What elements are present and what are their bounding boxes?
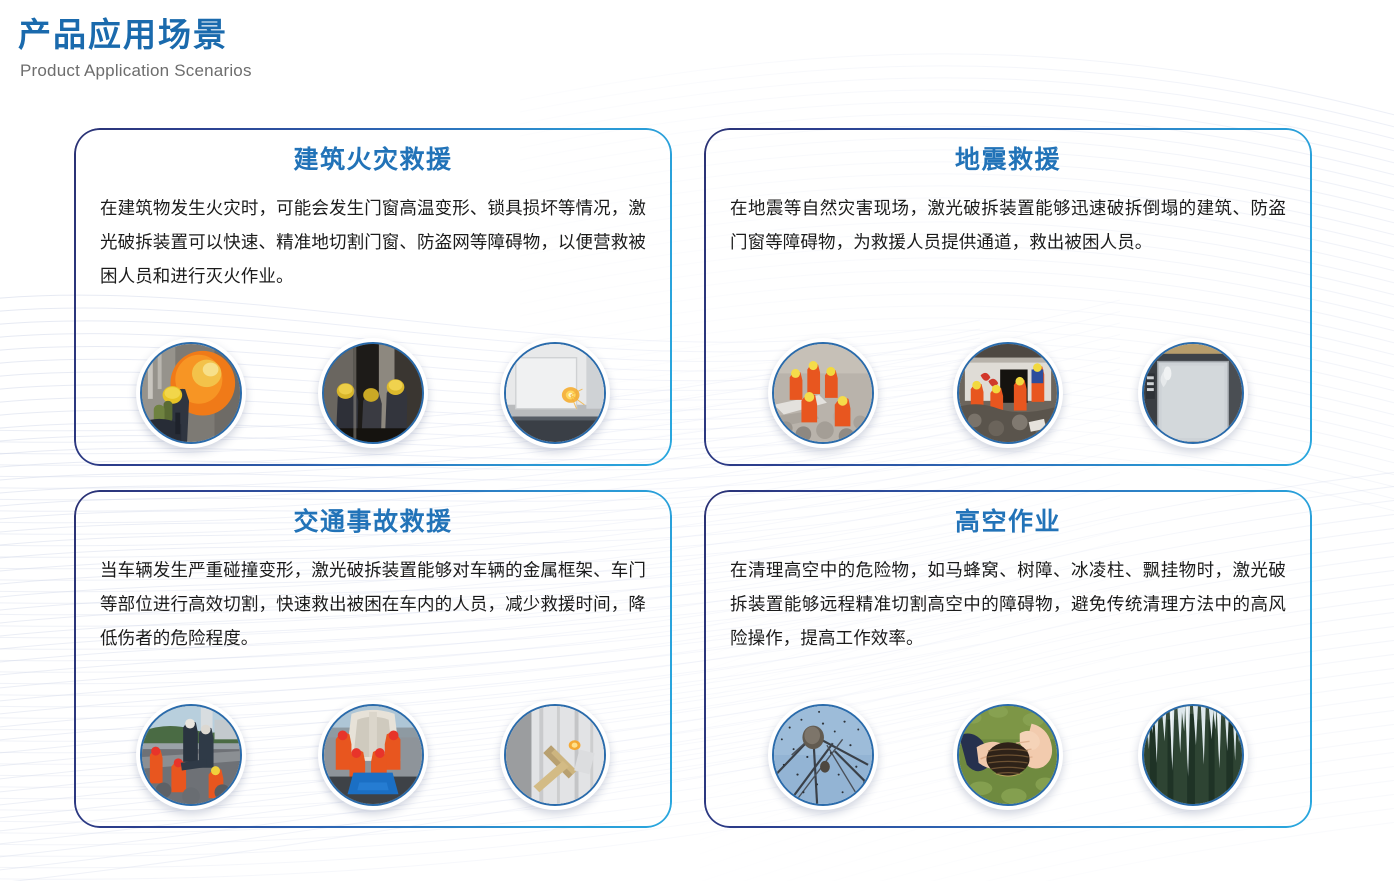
hands-holding-honeycomb-photo[interactable] bbox=[953, 700, 1063, 810]
scenario-card-high-altitude-operation[interactable]: 高空作业 在清理高空中的危险物，如马蜂窝、树障、冰凌柱、飘挂物时，激光破拆装置能… bbox=[704, 490, 1312, 828]
card-photo-row bbox=[704, 338, 1312, 448]
card-title: 建筑火灾救援 bbox=[74, 128, 672, 175]
card-photo-row bbox=[74, 700, 672, 810]
card-description: 在建筑物发生火灾时，可能会发生门窗高温变形、锁具损坏等情况，激光破拆装置可以快速… bbox=[74, 175, 672, 293]
card-description: 当车辆发生严重碰撞变形，激光破拆装置能够对车辆的金属框架、车门等部位进行高效切割… bbox=[74, 537, 672, 655]
card-description: 在地震等自然灾害现场，激光破拆装置能够迅速破拆倒塌的建筑、防盗门窗等障碍物，为救… bbox=[704, 175, 1312, 259]
icicles-on-trees-photo[interactable] bbox=[1138, 700, 1248, 810]
laser-cutting-metal-sparks-photo[interactable] bbox=[500, 338, 610, 448]
collapsed-building-entry-photo[interactable] bbox=[953, 338, 1063, 448]
firefighters-in-smoky-corridor-photo[interactable] bbox=[318, 338, 428, 448]
card-title: 交通事故救援 bbox=[74, 490, 672, 537]
page-subtitle: Product Application Scenarios bbox=[20, 61, 252, 81]
scenario-card-traffic-accident-rescue[interactable]: 交通事故救援 当车辆发生严重碰撞变形，激光破拆装置能够对车辆的金属框架、车门等部… bbox=[74, 490, 672, 828]
firefighter-spraying-flames-photo[interactable] bbox=[136, 338, 246, 448]
car-roof-cutting-rescue-photo[interactable] bbox=[318, 700, 428, 810]
roadside-vehicle-rescue-photo[interactable] bbox=[136, 700, 246, 810]
rescuers-on-rubble-photo[interactable] bbox=[768, 338, 878, 448]
card-photo-row bbox=[704, 700, 1312, 810]
page-title: 产品应用场景 bbox=[18, 14, 252, 55]
laser-cutting-pole-photo[interactable] bbox=[500, 700, 610, 810]
wasp-nest-on-power-line-photo[interactable] bbox=[768, 700, 878, 810]
card-title: 高空作业 bbox=[704, 490, 1312, 537]
card-description: 在清理高空中的危险物，如马蜂窝、树障、冰凌柱、飘挂物时，激光破拆装置能够远程精准… bbox=[704, 537, 1312, 655]
card-photo-row bbox=[74, 338, 672, 448]
scenario-card-earthquake-rescue[interactable]: 地震救援 在地震等自然灾害现场，激光破拆装置能够迅速破拆倒塌的建筑、防盗门窗等障… bbox=[704, 128, 1312, 466]
scenario-card-building-fire-rescue[interactable]: 建筑火灾救援 在建筑物发生火灾时，可能会发生门窗高温变形、锁具损坏等情况，激光破… bbox=[74, 128, 672, 466]
page-header: 产品应用场景 Product Application Scenarios bbox=[18, 14, 252, 81]
card-title: 地震救援 bbox=[704, 128, 1312, 175]
security-door-cutting-photo[interactable] bbox=[1138, 338, 1248, 448]
